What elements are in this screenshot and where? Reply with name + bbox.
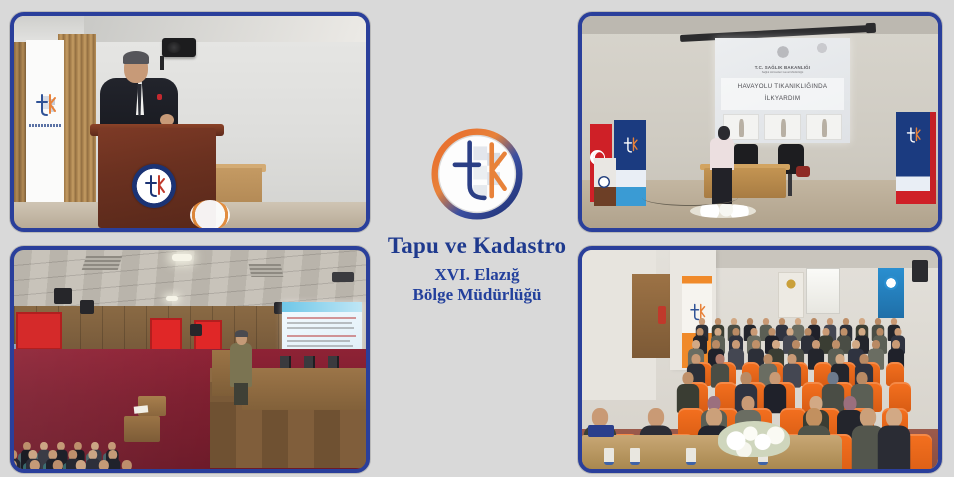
secondary-logo-icon [815, 41, 829, 55]
slide-bullet-line [287, 322, 352, 324]
person-head [742, 396, 755, 411]
ceiling-projector [332, 272, 354, 282]
podium [594, 158, 616, 206]
brand-subtitle-line1: XVI. Elazığ [372, 265, 582, 284]
presenter-head [718, 126, 730, 140]
person-head [706, 408, 722, 427]
slide-bullet-line [287, 327, 354, 329]
slide-bullet-line [287, 317, 356, 319]
person-head [769, 372, 780, 385]
red-blind [16, 312, 62, 350]
person-head [886, 408, 902, 427]
person-head [53, 460, 63, 469]
secondary-seal-icon [190, 200, 230, 228]
ceiling-light [172, 254, 192, 261]
ceiling-light [166, 296, 178, 301]
slide-bullet-line [287, 335, 356, 337]
water-glass [604, 448, 614, 465]
auditorium-attendees-photo[interactable] [578, 246, 942, 473]
poster-canvas: T.C. SAĞLIK BAKANLIĞI Sağlık Hizmetleri … [0, 0, 954, 477]
projection-screen: T.C. SAĞLIK BAKANLIĞI Sağlık Hizmetleri … [715, 38, 850, 143]
podium-seal-icon [132, 164, 176, 208]
person-head [592, 408, 608, 427]
tapu-kadastro-logo [431, 128, 523, 220]
person-head [99, 460, 109, 469]
tk-logo-icon [142, 173, 166, 199]
banner-caption-text [29, 124, 61, 127]
person-head [856, 372, 867, 385]
person-head [806, 408, 822, 427]
loudspeaker-icon [54, 288, 72, 304]
conference-hall-audience-photo[interactable] [10, 246, 370, 473]
water-glass [630, 448, 640, 465]
tk-circular-logo-icon [431, 128, 523, 220]
slide-thumbnails [723, 114, 842, 140]
slide-header-band [282, 302, 362, 312]
paper-sheet [134, 405, 149, 413]
air-vent [249, 264, 284, 277]
slide-bullet-line [287, 345, 353, 347]
person-head [76, 460, 86, 469]
slide-ministry-subtitle: Sağlık Hizmetleri Genel Müdürlüğü [715, 71, 850, 74]
brand-text: Tapu ve Kadastro XVI. Elazığ Bölge Müdür… [372, 234, 582, 304]
panel-table [242, 368, 366, 410]
presenter-hair [235, 330, 248, 337]
tk-logo-icon [33, 92, 57, 118]
loudspeaker-icon [190, 324, 202, 336]
tk-banner [26, 40, 64, 205]
air-vent [82, 256, 123, 270]
presenter-torso [230, 343, 252, 387]
brand-subtitle-line2: Bölge Müdürlüğü [372, 285, 582, 304]
front-table [582, 435, 842, 469]
red-bag [796, 166, 810, 177]
speaker-hair [123, 51, 149, 64]
water-glass [686, 448, 696, 465]
gift-box [588, 425, 614, 437]
tk-logo-icon [621, 136, 639, 154]
lapel-pin [157, 94, 162, 100]
page-title: Tapu ve Kadastro [372, 234, 582, 259]
photo-content [14, 16, 366, 228]
presenter-torso [710, 138, 734, 170]
person-head [860, 408, 876, 427]
person-head [30, 460, 40, 469]
floral-arrangement [718, 421, 790, 457]
health-ministry-logo-icon [774, 43, 792, 61]
slide-heading-line1: HAVAYOLU TIKANIKLIĞINDA [715, 83, 850, 90]
brand-block: Tapu ve Kadastro XVI. Elazığ Bölge Müdür… [372, 0, 582, 477]
loudspeaker-icon [80, 300, 94, 314]
slide-bullet-line [287, 340, 350, 342]
loudspeaker-icon [162, 38, 196, 57]
person-head [648, 408, 664, 427]
tk-logo-icon [904, 126, 922, 144]
slide-thumbnail [764, 114, 800, 140]
roll-up-banner-right [896, 112, 930, 204]
slide-ministry-title: T.C. SAĞLIK BAKANLIĞI [715, 65, 850, 70]
wooden-side-box [124, 416, 160, 442]
first-aid-presentation-photo[interactable]: T.C. SAĞLIK BAKANLIĞI Sağlık Hizmetleri … [578, 12, 942, 232]
slide-heading-line2: İLKYARDIM [715, 95, 850, 102]
stage-front-panel [210, 402, 366, 468]
speaker-mount [160, 56, 164, 70]
presenter-legs [234, 383, 248, 405]
person-head [827, 372, 838, 385]
photo-content [14, 250, 366, 469]
person-head [122, 460, 132, 469]
photo-content: T.C. SAĞLIK BAKANLIĞI Sağlık Hizmetleri … [582, 16, 938, 228]
photo-content [582, 250, 938, 469]
speaker-at-podium-photo[interactable] [10, 12, 370, 232]
floral-arrangement [690, 204, 756, 218]
slide-thumbnail [806, 114, 842, 140]
person-head [740, 372, 751, 385]
person-body [878, 426, 911, 470]
person-head [844, 396, 857, 411]
person-head [682, 372, 693, 385]
